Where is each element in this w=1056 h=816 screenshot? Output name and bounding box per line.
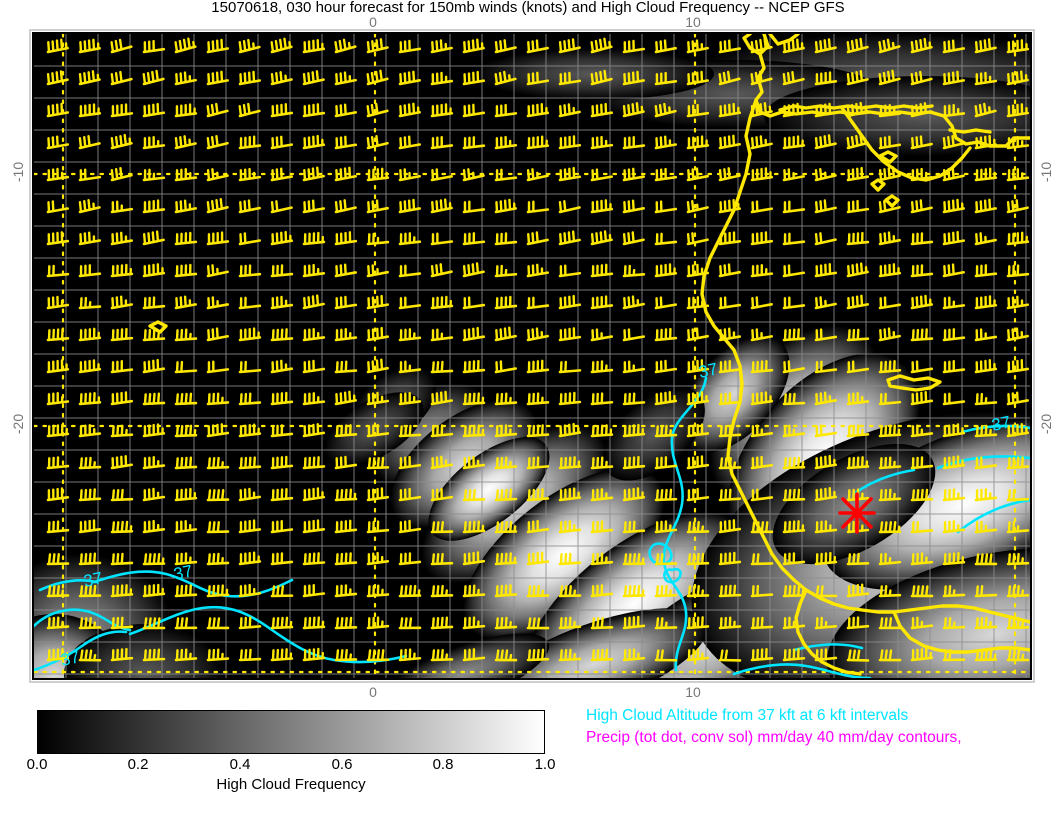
axis-tick-left-1: -20 <box>10 414 26 434</box>
legend-precip: Precip (tot dot, conv sol) mm/day 40 mm/… <box>586 727 1056 749</box>
colorbar-tick-5: 1.0 <box>535 756 556 773</box>
page-title: 15070618, 030 hour forecast for 150mb wi… <box>0 0 1056 17</box>
map-svg: 3737373737 <box>34 34 1030 678</box>
colorbar-tick-0: 0.0 <box>27 756 48 773</box>
axis-tick-right-1: -20 <box>1038 414 1054 434</box>
contour-label-4: 37 <box>990 412 1012 435</box>
colorbar-tick-4: 0.8 <box>433 756 454 773</box>
axis-tick-right-0: -10 <box>1038 162 1054 182</box>
contour-label-3: 37 <box>697 359 719 382</box>
legend-cloud-altitude: High Cloud Altitude from 37 kft at 6 kft… <box>586 705 1056 727</box>
legend-block: High Cloud Altitude from 37 kft at 6 kft… <box>586 705 1056 749</box>
contour-label-0: 37 <box>82 568 104 591</box>
colorbar-tick-2: 0.4 <box>230 756 251 773</box>
map-canvas: 3737373737 <box>34 34 1030 678</box>
contour-label-2: 37 <box>172 561 194 584</box>
axis-tick-left-0: -10 <box>10 162 26 182</box>
axis-tick-top-0: 0 <box>369 14 377 30</box>
map-plot-area[interactable]: 3737373737 <box>32 32 1032 680</box>
axis-tick-top-1: 10 <box>685 14 701 30</box>
contour-label-1: 37 <box>59 647 81 670</box>
colorbar[interactable] <box>37 710 545 754</box>
colorbar-label: High Cloud Frequency <box>216 776 365 793</box>
colorbar-gradient <box>37 710 545 754</box>
colorbar-tick-1: 0.2 <box>128 756 149 773</box>
axis-tick-bottom-1: 10 <box>685 684 701 700</box>
site-marker-icon <box>840 494 874 532</box>
axis-tick-bottom-0: 0 <box>369 684 377 700</box>
colorbar-tick-3: 0.6 <box>332 756 353 773</box>
